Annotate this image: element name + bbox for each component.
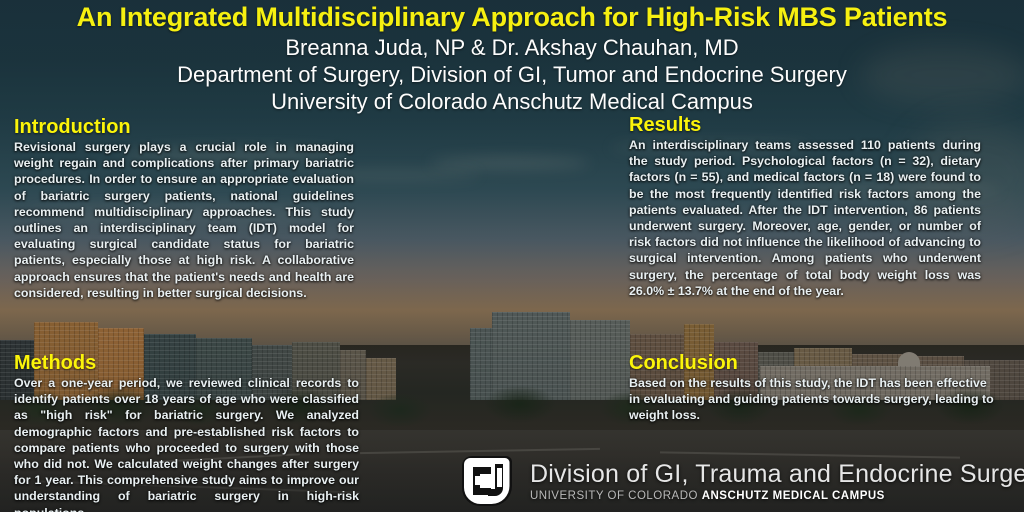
- section-conclusion: Conclusion Based on the results of this …: [629, 352, 998, 424]
- section-heading-methods: Methods: [14, 352, 359, 374]
- footer-logo-lockup: Division of GI, Trauma and Endocrine Sur…: [458, 452, 1024, 512]
- campus-name: UNIVERSITY OF COLORADO ANSCHUTZ MEDICAL …: [530, 489, 1024, 503]
- department-line: Department of Surgery, Division of GI, T…: [0, 62, 1024, 88]
- section-heading-introduction: Introduction: [14, 116, 354, 138]
- section-introduction: Introduction Revisional surgery plays a …: [14, 116, 354, 301]
- section-methods: Methods Over a one-year period, we revie…: [14, 352, 359, 512]
- section-heading-conclusion: Conclusion: [629, 352, 998, 374]
- author-line: Breanna Juda, NP & Dr. Akshay Chauhan, M…: [0, 35, 1024, 61]
- page-title: An Integrated Multidisciplinary Approach…: [0, 2, 1024, 33]
- logo-text-block: Division of GI, Trauma and Endocrine Sur…: [530, 460, 1024, 505]
- poster-content: An Integrated Multidisciplinary Approach…: [0, 0, 1024, 512]
- university-line: University of Colorado Anschutz Medical …: [0, 89, 1024, 115]
- poster-canvas: An Integrated Multidisciplinary Approach…: [0, 0, 1024, 512]
- campus-name-light: UNIVERSITY OF COLORADO: [530, 490, 702, 502]
- section-results: Results An interdisciplinary teams asses…: [629, 114, 981, 299]
- section-body-methods: Over a one-year period, we reviewed clin…: [14, 375, 359, 512]
- campus-name-bold: ANSCHUTZ MEDICAL CAMPUS: [702, 490, 885, 502]
- cu-interlocking-mark-icon: [458, 452, 520, 512]
- section-heading-results: Results: [629, 114, 981, 136]
- section-body-introduction: Revisional surgery plays a crucial role …: [14, 139, 354, 301]
- division-name: Division of GI, Trauma and Endocrine Sur…: [530, 460, 1024, 488]
- section-body-results: An interdisciplinary teams assessed 110 …: [629, 137, 981, 299]
- section-body-conclusion: Based on the results of this study, the …: [629, 375, 998, 424]
